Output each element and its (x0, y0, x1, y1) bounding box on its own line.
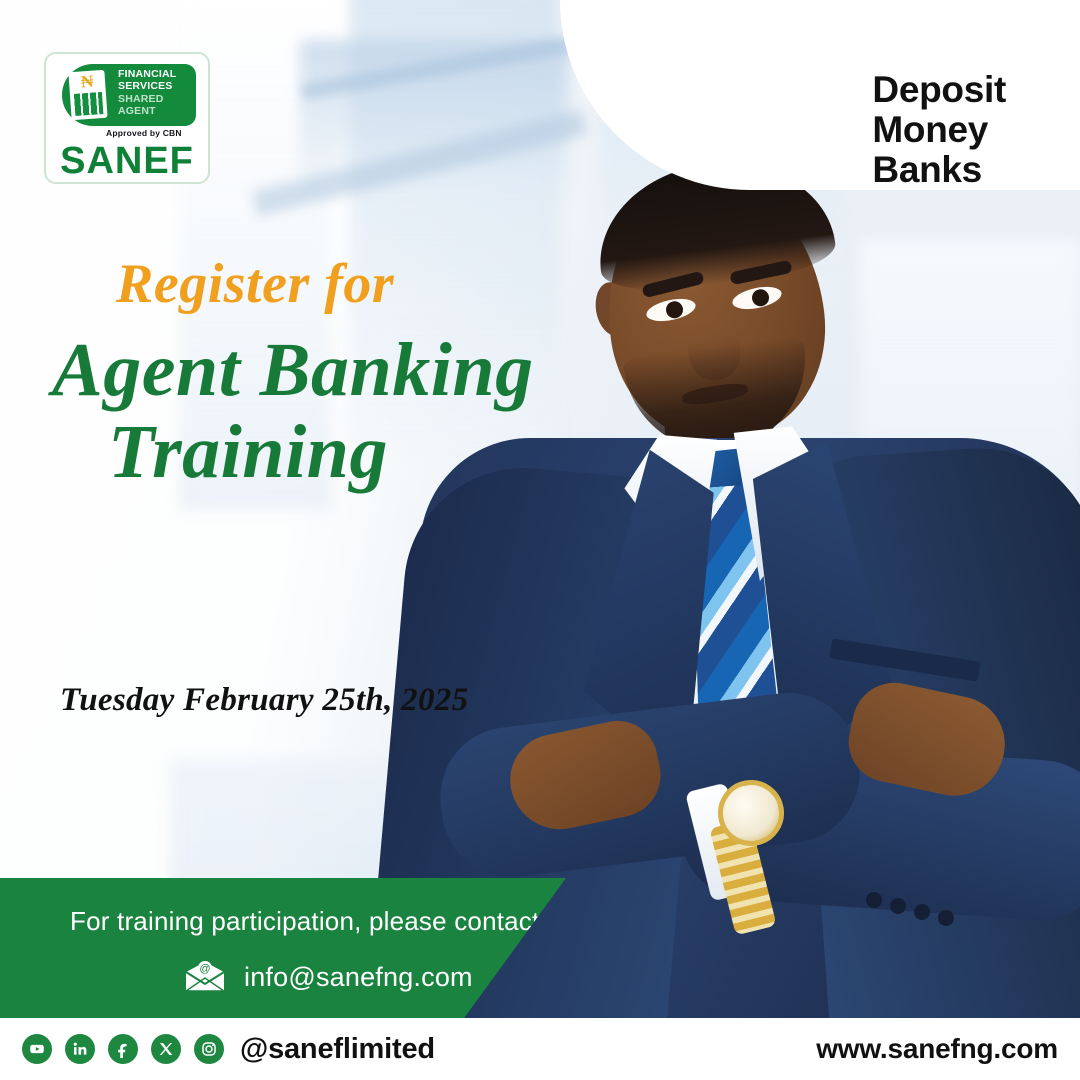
sanef-logo-text: FINANCIAL SERVICES SHARED AGENT (118, 68, 194, 118)
contact-prompt: For training participation, please conta… (70, 906, 547, 937)
deposit-money-banks-label: Deposit Money Banks (872, 70, 1006, 190)
logo-line-shared: SHARED (118, 93, 194, 105)
sanef-shield-icon: ₦ FINANCIAL SERVICES SHARED AGENT (62, 64, 196, 126)
event-date: Tuesday February 25th, 2025 (60, 682, 468, 719)
contact-email-address[interactable]: info@sanefng.com (244, 962, 473, 993)
x-twitter-icon[interactable] (151, 1034, 181, 1064)
logo-line-services: SERVICES (118, 80, 194, 92)
dmb-line-3: Banks (872, 150, 1006, 190)
footer-bar: @saneflimited www.sanefng.com (0, 1018, 1080, 1080)
youtube-icon[interactable] (22, 1034, 52, 1064)
naira-symbol: ₦ (72, 72, 101, 92)
headline-block: Register for Agent Banking Training (52, 252, 612, 490)
poster-canvas: Deposit Money Banks ₦ FINANCIAL SERVICES… (0, 0, 1080, 1080)
dmb-line-1: Deposit (872, 70, 1006, 110)
logo-line-agent: AGENT (118, 105, 194, 117)
approved-by-cbn-label: Approved by CBN (106, 128, 206, 138)
facebook-icon[interactable] (108, 1034, 138, 1064)
sanef-logo: ₦ FINANCIAL SERVICES SHARED AGENT Approv… (44, 52, 210, 184)
svg-text:@: @ (199, 963, 210, 975)
calculator-naira-icon: ₦ (68, 70, 107, 120)
dmb-line-2: Money (872, 110, 1006, 150)
contact-email-row[interactable]: @ info@sanefng.com (182, 960, 473, 994)
calculator-keys (74, 92, 103, 116)
sanef-wordmark: SANEF (46, 140, 208, 183)
instagram-icon[interactable] (194, 1034, 224, 1064)
headline-title-line-1: Agent Banking (52, 328, 534, 412)
social-handle[interactable]: @saneflimited (240, 1033, 435, 1066)
headline-kicker: Register for (116, 252, 612, 316)
social-links (22, 1034, 224, 1064)
website-url[interactable]: www.sanefng.com (816, 1033, 1058, 1065)
logo-line-financial: FINANCIAL (118, 68, 194, 80)
linkedin-icon[interactable] (65, 1034, 95, 1064)
envelope-at-icon: @ (182, 960, 228, 994)
headline-title: Agent Banking Training (52, 332, 612, 490)
headline-title-line-2: Training (108, 414, 612, 490)
